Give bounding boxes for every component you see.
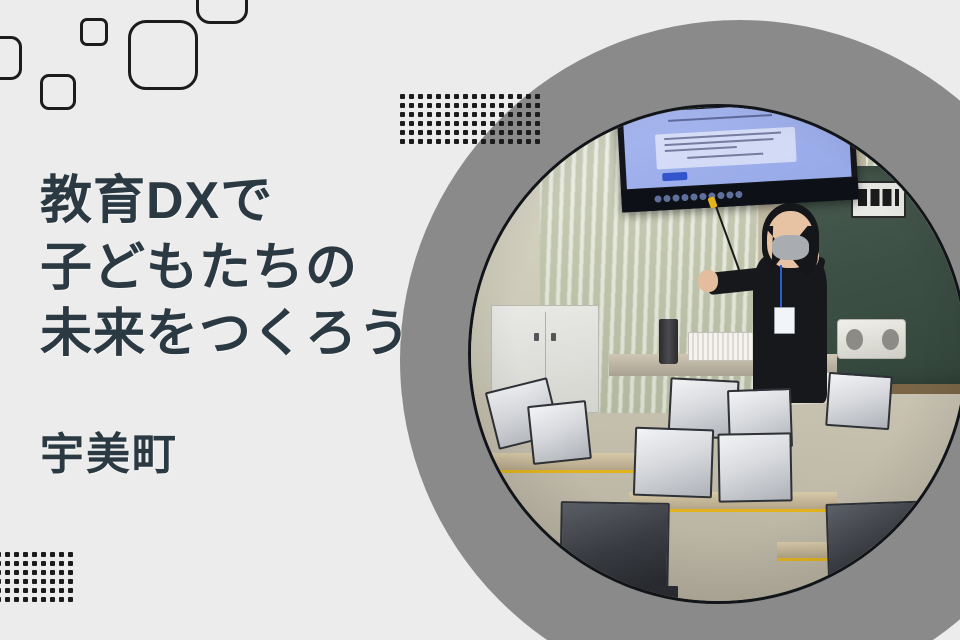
rounded-square-5 xyxy=(196,0,248,24)
teacher-lanyard xyxy=(780,265,782,309)
headline-line-3: 未来をつくろう xyxy=(40,301,470,368)
teacher-id-badge xyxy=(774,307,795,334)
laptop-keyboard xyxy=(550,586,678,601)
laptop xyxy=(527,400,592,465)
whiteboard-screen xyxy=(623,107,852,189)
thermos-bottle xyxy=(659,319,679,363)
classroom-photo xyxy=(468,104,960,604)
rounded-square-3 xyxy=(80,18,108,46)
cd-player xyxy=(837,319,906,359)
laptop xyxy=(825,372,893,431)
whiteboard-submit-button xyxy=(662,172,687,182)
poster-canvas: 教育DXで 子どもたちの 未来をつくろう 宇美町 xyxy=(0,0,960,640)
electronic-whiteboard xyxy=(616,107,859,212)
laptop xyxy=(633,427,714,499)
rounded-square-4 xyxy=(128,20,198,90)
whiteboard-form-card xyxy=(656,126,797,169)
laptop-foreground xyxy=(559,501,669,597)
headline-line-1: 教育DXで xyxy=(40,168,470,235)
teacher-hand-left xyxy=(698,270,718,292)
rounded-square-1 xyxy=(0,36,22,80)
teacher-face-mask xyxy=(772,235,809,260)
dot-grid-bottom xyxy=(0,552,77,606)
laptop-foreground xyxy=(825,500,937,593)
municipality-name: 宇美町 xyxy=(40,418,178,482)
digital-clock xyxy=(851,181,905,218)
rounded-square-2 xyxy=(40,74,76,110)
laptop xyxy=(717,432,792,502)
classroom-photo-scene xyxy=(471,107,960,601)
page-headline: 教育DXで 子どもたちの 未来をつくろう xyxy=(40,168,470,368)
headline-line-2: 子どもたちの xyxy=(40,235,470,302)
